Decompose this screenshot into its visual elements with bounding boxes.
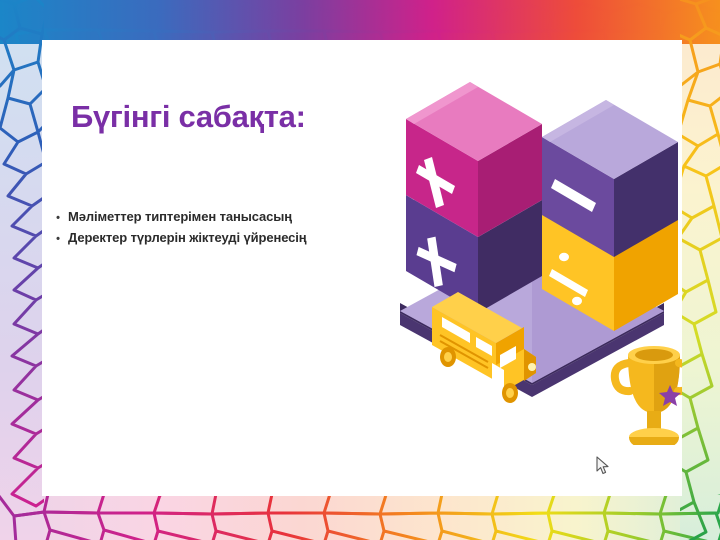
isometric-math-blocks-illustration	[392, 45, 682, 445]
list-item-label: Деректер түрлерін жіктеуді үйренесің	[68, 229, 307, 247]
list-item-label: Мәліметтер типтерімен танысасың	[68, 208, 292, 226]
bullet-marker-icon: •	[48, 229, 68, 249]
slideshow-stage: Бүгінгі сабақта: • Мәліметтер типтерімен…	[0, 0, 720, 540]
list-item: • Деректер түрлерін жіктеуді үйренесің	[48, 229, 378, 249]
presentation-slide: Бүгінгі сабақта: • Мәліметтер типтерімен…	[42, 40, 682, 496]
trophy-icon	[615, 346, 682, 445]
list-item: • Мәліметтер типтерімен танысасың	[48, 208, 378, 228]
bullet-marker-icon: •	[48, 208, 68, 228]
mouse-pointer-icon	[596, 456, 610, 476]
page-title: Бүгінгі сабақта:	[71, 100, 306, 134]
bullet-list: • Мәліметтер типтерімен танысасың • Дере…	[48, 208, 378, 250]
